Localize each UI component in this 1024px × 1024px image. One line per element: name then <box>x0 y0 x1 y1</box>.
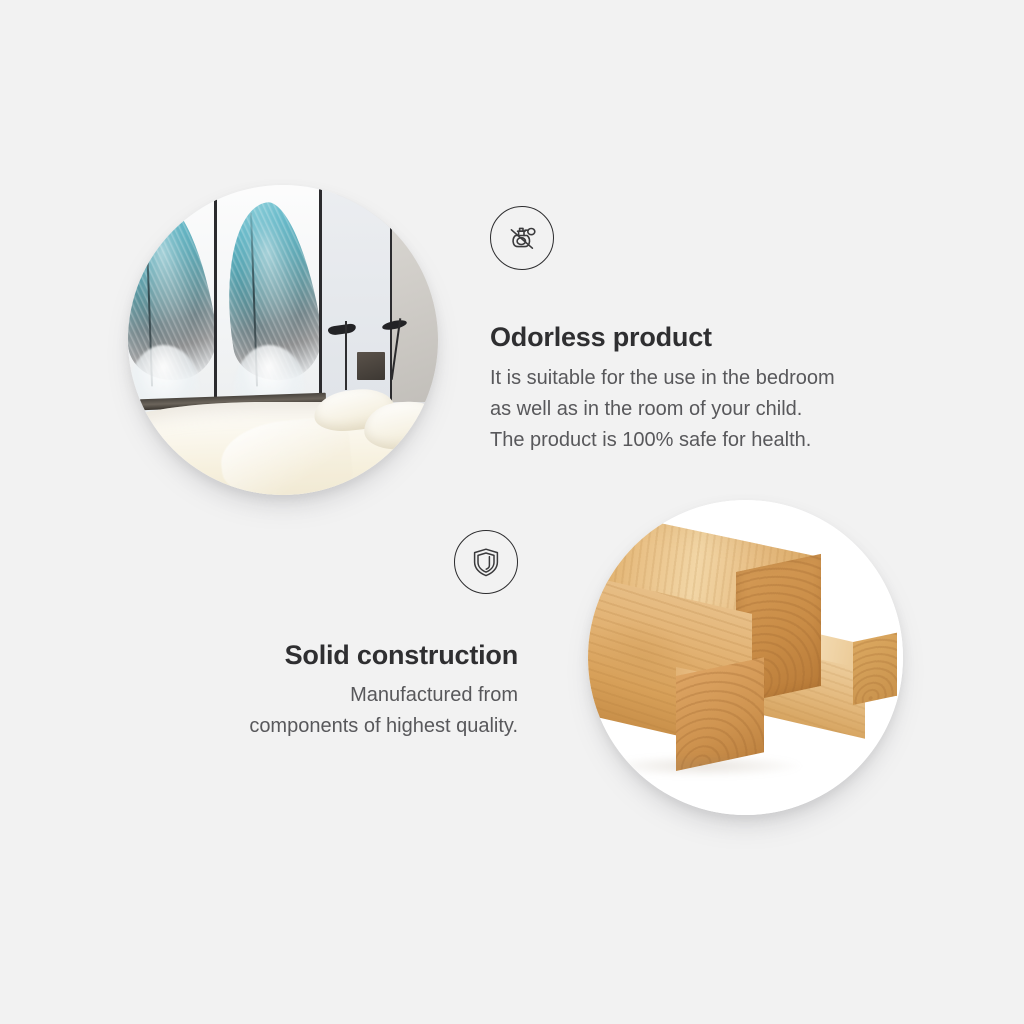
beam-contact-shadow <box>607 755 802 777</box>
description-line: components of highest quality. <box>150 711 518 742</box>
bedroom-scene <box>128 185 438 495</box>
feature-description: It is suitable for the use in the bedroo… <box>490 363 930 456</box>
description-line: Manufactured from <box>150 680 518 711</box>
shield-icon <box>454 530 518 594</box>
description-line: as well as in the room of your child. <box>490 394 930 425</box>
feature-title: Solid construction <box>150 640 518 671</box>
no-perfume-icon <box>490 206 554 270</box>
feature-block-odorless: Odorless product It is suitable for the … <box>490 206 930 456</box>
feature-title: Odorless product <box>490 322 930 353</box>
feature-description: Manufactured from components of highest … <box>150 680 518 742</box>
rear-plank-end-grain <box>853 632 897 704</box>
nightstand-object <box>357 352 385 380</box>
artwork-panel-left <box>128 185 216 427</box>
lamp-stem-left <box>345 321 347 389</box>
front-block-end-grain <box>676 658 764 771</box>
description-line: The product is 100% safe for health. <box>490 425 930 456</box>
bedroom-feather-artwork-photo <box>128 185 438 495</box>
wooden-beams-photo <box>588 500 903 815</box>
wooden-beams-scene <box>588 500 903 815</box>
description-line: It is suitable for the use in the bedroo… <box>490 363 930 394</box>
feature-block-solid-construction: Solid construction Manufactured from com… <box>150 530 518 742</box>
infographic-canvas: Odorless product It is suitable for the … <box>0 0 1024 1024</box>
artwork-panel-middle <box>215 185 321 427</box>
